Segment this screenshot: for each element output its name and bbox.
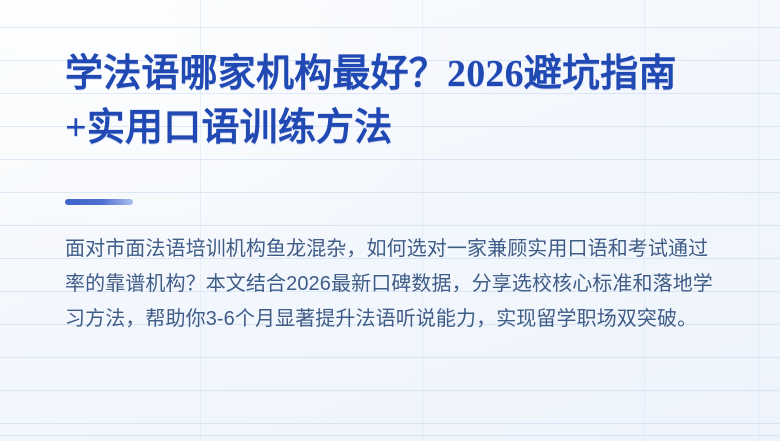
article-description: 面对市面法语培训机构鱼龙混杂，如何选对一家兼顾实用口语和考试通过率的靠谱机构？本… [65,232,720,337]
content-container: 学法语哪家机构最好？2026避坑指南+实用口语训练方法 面对市面法语培训机构鱼龙… [65,0,725,441]
title-divider-bar [65,199,133,205]
article-cover-card: 学法语哪家机构最好？2026避坑指南+实用口语训练方法 面对市面法语培训机构鱼龙… [0,0,780,441]
page-title: 学法语哪家机构最好？2026避坑指南+实用口语训练方法 [65,47,717,155]
